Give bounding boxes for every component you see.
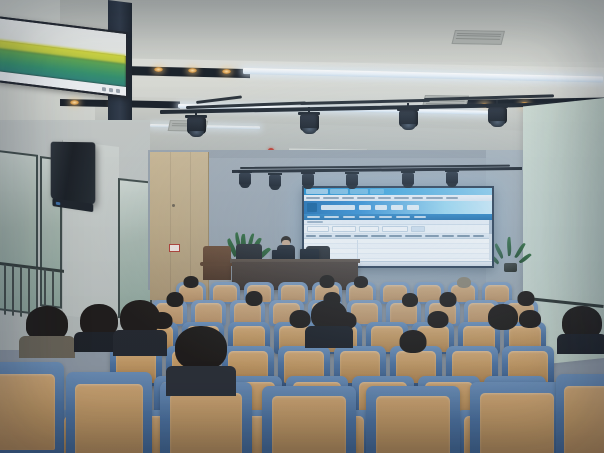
person-torso xyxy=(166,366,236,396)
nav-item[interactable] xyxy=(396,216,410,218)
search-button[interactable] xyxy=(411,226,425,232)
toolbar-item[interactable] xyxy=(446,197,458,199)
nav-item[interactable] xyxy=(307,216,320,218)
table-column-header xyxy=(354,235,368,237)
toolbar-item[interactable] xyxy=(412,197,423,199)
railing-baluster xyxy=(20,266,22,316)
table-column-header xyxy=(425,235,439,237)
plant-right xyxy=(497,236,523,272)
nav-item[interactable] xyxy=(414,216,426,218)
toolbar-item[interactable] xyxy=(306,197,320,199)
audience-member xyxy=(182,276,200,290)
seat-backboard xyxy=(564,386,604,453)
person-head xyxy=(402,293,418,307)
seat-backboard xyxy=(272,396,345,453)
audience-member xyxy=(308,300,350,348)
table-column-header xyxy=(442,235,454,237)
auditorium-photo xyxy=(0,0,604,453)
wall-speaker xyxy=(51,142,96,205)
toolbar-item[interactable] xyxy=(378,197,391,199)
nav-item[interactable] xyxy=(343,216,355,218)
person-head xyxy=(488,304,518,330)
banner-title-text xyxy=(321,205,355,210)
audience-member xyxy=(398,330,428,354)
audience-member-foreground xyxy=(118,300,162,356)
chair-armrest xyxy=(200,262,234,266)
system-banner xyxy=(304,201,492,214)
wood-veneer-panel xyxy=(150,152,209,300)
audience-member xyxy=(438,292,458,308)
seat-backboard xyxy=(0,374,55,450)
browser-tab[interactable] xyxy=(306,189,328,194)
banner-nav-text xyxy=(407,205,419,210)
banner-nav-text xyxy=(375,205,387,210)
audience-member-nearest xyxy=(172,326,230,396)
banner-nav-text xyxy=(359,205,371,210)
person-head xyxy=(184,276,199,288)
table-column-header xyxy=(371,235,386,237)
seat[interactable] xyxy=(556,374,604,453)
audience-member xyxy=(486,304,520,332)
seat[interactable] xyxy=(366,386,460,453)
warm-spotlight-icon xyxy=(222,69,231,74)
filter-field[interactable] xyxy=(307,226,329,232)
railing-baluster xyxy=(4,264,6,314)
seat-backboard xyxy=(170,393,242,453)
toolbar-item[interactable] xyxy=(323,197,339,199)
person-torso xyxy=(113,330,167,356)
person-head xyxy=(440,292,457,307)
toolbar-item[interactable] xyxy=(357,197,375,199)
person-torso xyxy=(557,334,604,354)
table-column-header xyxy=(306,235,316,237)
browser-titlebar xyxy=(304,188,492,195)
table-column-header xyxy=(457,235,470,237)
plant-leaf xyxy=(506,237,512,256)
audience-member xyxy=(400,293,420,308)
person-head xyxy=(320,275,335,288)
ceiling-vent-icon xyxy=(452,30,505,45)
toolbar-item[interactable] xyxy=(426,197,443,199)
person-torso xyxy=(305,326,353,348)
speaker-led-icon xyxy=(56,202,60,206)
emergency-sign-icon xyxy=(169,244,180,252)
person-head xyxy=(167,292,184,307)
person-head xyxy=(175,326,227,370)
audience-member xyxy=(352,276,370,290)
table-column-header xyxy=(405,235,422,237)
projection-screen xyxy=(302,186,494,268)
warm-spotlight-icon xyxy=(154,67,163,72)
ceiling-slab-upper xyxy=(60,0,604,62)
table-column-header xyxy=(389,235,402,237)
person-head xyxy=(428,311,449,328)
audience-member xyxy=(165,292,185,308)
person-head xyxy=(457,277,471,288)
seat-backboard xyxy=(376,396,449,453)
person-head xyxy=(519,310,541,328)
audience-member xyxy=(426,311,450,329)
person-head xyxy=(246,291,263,306)
table-column-header xyxy=(335,235,351,237)
person-head xyxy=(518,291,535,306)
audience-member-foreground xyxy=(560,306,604,354)
taskbar-icon xyxy=(109,88,113,92)
nav-item[interactable] xyxy=(324,216,339,218)
seat-backboard xyxy=(75,384,142,453)
audience-member xyxy=(244,291,264,307)
seat[interactable] xyxy=(470,382,564,453)
filter-field[interactable] xyxy=(382,226,408,232)
projected-application xyxy=(304,188,492,266)
taskbar-icon xyxy=(116,88,120,92)
seat-backboard xyxy=(480,393,553,453)
toolbar-item[interactable] xyxy=(394,197,409,199)
filter-field[interactable] xyxy=(359,226,379,232)
browser-tab[interactable] xyxy=(330,189,348,194)
audience-member-foreground xyxy=(24,306,70,358)
audience-member xyxy=(318,275,336,289)
person-torso xyxy=(19,336,75,358)
toolbar-item[interactable] xyxy=(342,197,354,199)
browser-tab[interactable] xyxy=(370,189,384,194)
railing-baluster xyxy=(12,265,14,315)
vertical-scrollbar[interactable] xyxy=(489,220,492,260)
browser-tab[interactable] xyxy=(350,189,368,194)
seat[interactable] xyxy=(0,362,64,453)
table-column-header xyxy=(319,235,332,237)
person-head xyxy=(400,330,427,353)
audience-member xyxy=(455,277,473,290)
warm-spotlight-icon xyxy=(188,68,197,73)
system-logo-icon xyxy=(307,203,317,212)
filter-field[interactable] xyxy=(332,226,356,232)
audience-member xyxy=(518,310,542,329)
warm-spotlight-icon xyxy=(70,100,79,105)
banner-nav-text xyxy=(391,205,403,210)
person-head xyxy=(354,276,368,288)
filter-bar xyxy=(304,225,492,234)
seat[interactable] xyxy=(262,386,356,453)
door-knob-icon xyxy=(172,204,175,207)
nav-item[interactable] xyxy=(379,216,392,218)
taskbar-icon xyxy=(102,87,106,91)
wooden-armchair xyxy=(203,246,231,280)
seat[interactable] xyxy=(66,372,152,453)
table-column-header xyxy=(473,235,484,237)
nav-item[interactable] xyxy=(359,216,375,218)
panel-seam xyxy=(170,152,171,300)
plant-pot xyxy=(504,263,517,272)
